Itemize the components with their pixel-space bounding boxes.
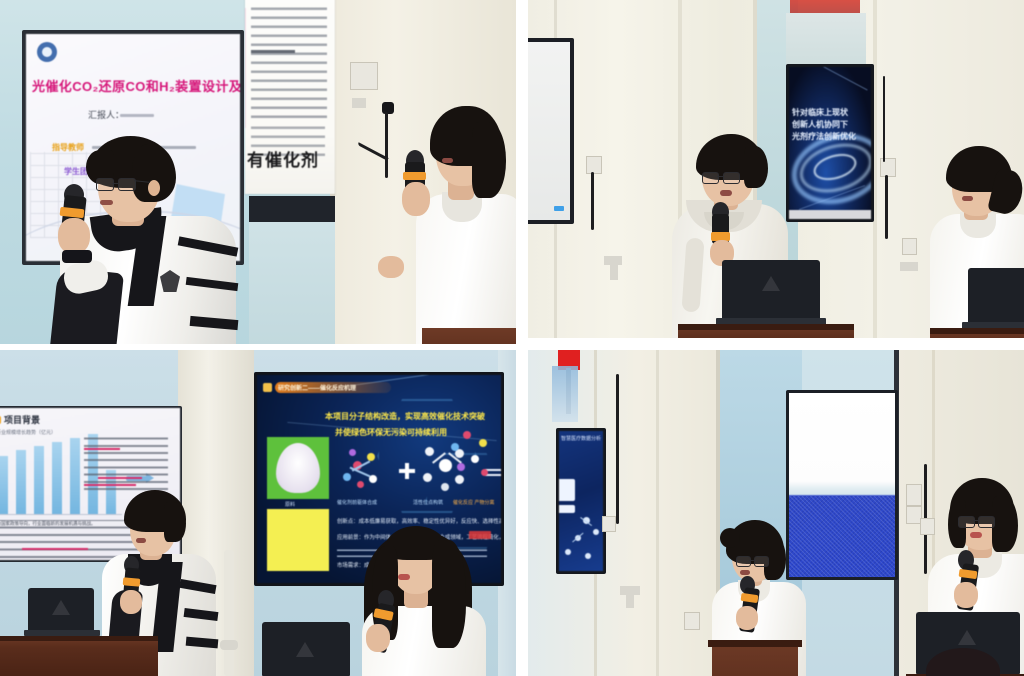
laptop-screen [968,268,1024,324]
wall-cable-b [885,175,888,239]
side-led-screen: 智慧医疗数据分析 [559,431,603,571]
eyeglasses-icon [736,556,780,568]
chart-bar [52,442,62,514]
slide-subtitle-top-left: 汇报人： [88,108,124,121]
presenter-bottom-right-b [928,470,1024,676]
chart-bar [0,456,8,514]
photo-collage: 光催化CO₂还原CO和H₂装置设计及循环应用 汇报人： 指导教师 学生团队 有催… [0,0,1024,676]
presenter-bottom-right-a [706,526,816,676]
wall-socket-right [906,484,922,506]
side-led-caption: 智慧医疗数据分析 [561,435,601,442]
wall-bracket-c [900,262,918,271]
eyeglasses-icon [702,172,754,185]
plus-sign-icon [399,463,415,479]
laptop-logo-icon [958,630,976,645]
sample-image-green [267,437,329,499]
collage-panel-top-right: 针对临床上现状 创新人机协同下 光剂疗法创新优化 [528,0,1024,338]
chart-bar [16,450,26,514]
wall-socket-c [902,238,917,255]
collage-panel-bottom-left: 项目背景 行业规模增长趋势（亿元） 结合国家政策导向，行业面临新的发展机遇与挑战… [0,350,516,676]
presenter-gesture-hand [378,256,404,278]
chart-bar [34,446,44,514]
wall-cable-a [591,172,594,230]
presenter-top-left-a [40,130,240,346]
wall-socket-left [602,516,616,532]
molecule-cluster-right [443,425,499,489]
camera-mount-icon [382,102,394,114]
wall-poster-top-left: 有催化剂 [245,0,335,194]
wall-bracket-b [610,258,618,280]
wall-socket-a [586,156,602,174]
laptop-logo-icon [296,642,314,657]
pipe-bracket [220,640,238,650]
slide-headline-1: 本项目分子结构改造，实现高效催化技术突破 [325,411,485,422]
red-banner [790,0,860,13]
presenter-top-left-b [400,96,516,346]
lock-icon [263,383,272,392]
laptop-logo-icon [762,276,780,291]
presenter-top-right-a [668,142,798,338]
wall-cable-c [883,76,885,162]
podium-bottom-left [0,636,158,676]
process-step-1: 催化剂前驱体合成 [337,499,377,506]
wall-socket-top-left [350,62,378,90]
camera-cable [385,112,388,178]
eyeglasses-icon [96,178,152,192]
slide-title-top-left: 光催化CO₂还原CO和H₂装置设计及循环应用 [32,76,240,95]
wall-cable-left [616,374,619,524]
sample-image-yellow [267,509,329,571]
led-line-1: 针对临床上现状 [792,107,848,118]
hair-bun [720,528,740,548]
side-screen-left [528,42,570,220]
slide-tag-text: 研究创新二——催化反应机理 [278,383,356,392]
wall-bracket-left-2 [626,588,634,608]
light-panel-above-screen [786,13,866,65]
wall-blue-block [552,366,578,422]
laptop-logo-icon [52,600,70,615]
poster-heading: 有催化剂 [247,146,319,171]
label-green: 原料 [285,501,295,508]
side-screen-indicator-icon [554,206,564,211]
presenter-hand [58,218,90,254]
collage-gutter-vertical [516,0,528,676]
collage-panel-top-left: 光催化CO₂还原CO和H₂装置设计及循环应用 汇报人： 指导教师 学生团队 有催… [0,0,516,346]
collage-gutter-horizontal-right [528,338,1024,350]
slide-headline-2: 并使绿色环保无污染可持续利用 [335,427,447,438]
led-line-3: 光剂疗法创新优化 [792,131,856,142]
wall-panel-under-poster [249,222,335,346]
eyeglasses-icon [958,516,1006,529]
wall-screen-sliver [249,196,335,222]
presenter-top-right-b [926,156,1024,338]
led-line-2: 创新人机协同下 [792,119,848,130]
chart-axis-note: 行业规模增长趋势（亿元） [0,429,56,436]
process-step-3: 催化反应 产物分离 [453,499,494,506]
wall-pipe [224,550,234,676]
wall-socket-left-2 [684,612,700,630]
presenter-bottom-left-b [352,518,502,676]
wall-bracket-top-left [352,98,366,108]
collage-panel-bottom-right: 智慧医疗数据分析 [528,350,1024,676]
molecule-cluster-left [337,443,391,497]
process-step-2: 活性位点构筑 [413,499,443,506]
led-display-top-right: 针对临床上现状 创新人机协同下 光剂疗法创新优化 [789,67,871,219]
chart-slide-title: 项目背景 [4,413,40,426]
chart-bar [70,438,80,514]
